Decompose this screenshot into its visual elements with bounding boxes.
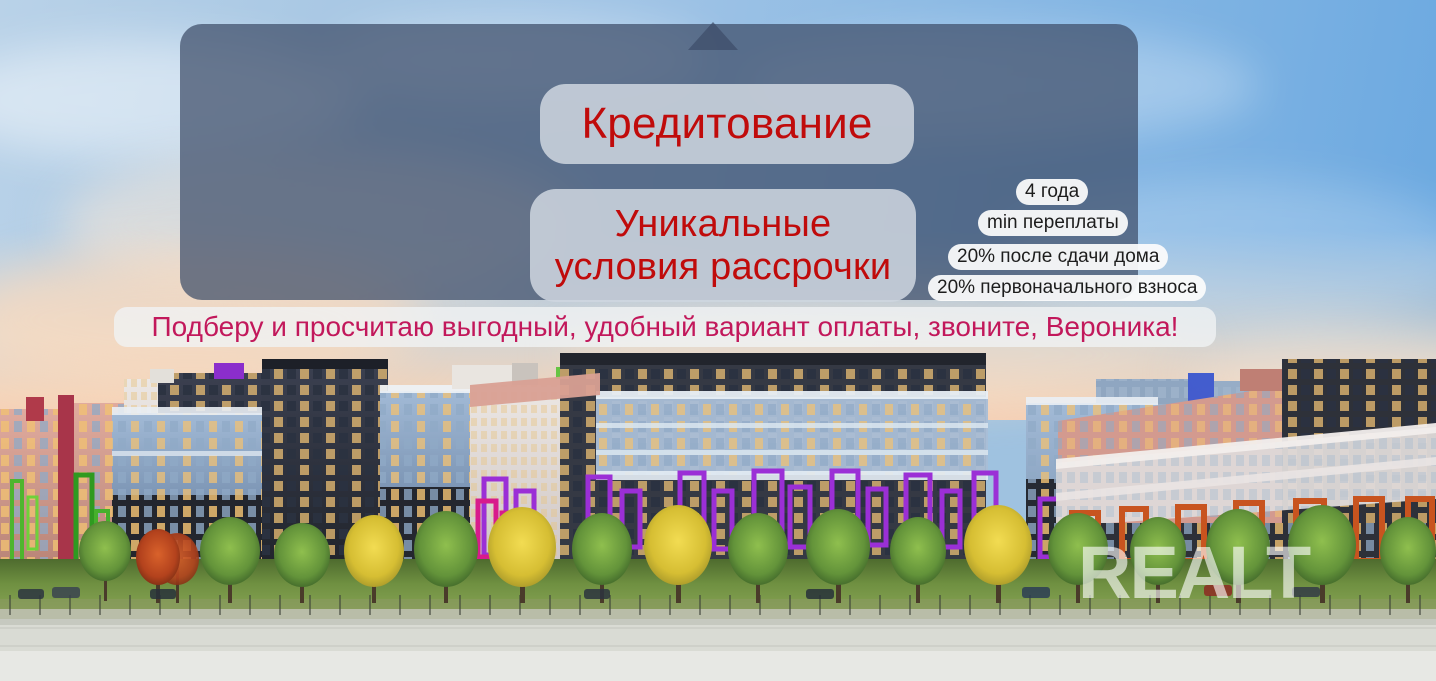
promo-banner-image: REALT Кредитование Уникальные условия ра… — [0, 0, 1436, 681]
feature-pill-downpayment: 20% первоначального взноса — [928, 275, 1206, 301]
feature-pill-markup: min переплаты — [978, 210, 1128, 236]
feature-pill-after-handover: 20% после сдачи дома — [948, 244, 1168, 270]
speech-bubble-tail — [688, 22, 738, 50]
call-to-action-banner: Подберу и просчитаю выгодный, удобный ва… — [114, 307, 1216, 347]
subheadline-line-2: условия рассрочки — [555, 246, 892, 288]
subheadline-text: Уникальные условия рассрочки — [555, 203, 892, 288]
cityscape-render — [0, 351, 1436, 681]
headline-text: Кредитование — [581, 99, 872, 148]
call-to-action-text: Подберу и просчитаю выгодный, удобный ва… — [152, 311, 1179, 343]
residential-complex-illustration — [0, 351, 1436, 681]
promo-overlay-panel: Кредитование Уникальные условия рассрочк… — [180, 24, 1138, 300]
subheadline-line-1: Уникальные — [615, 203, 832, 245]
subheadline-pill: Уникальные условия рассрочки — [530, 189, 916, 302]
feature-pill-term: 4 года — [1016, 179, 1088, 205]
headline-pill: Кредитование — [540, 84, 914, 164]
